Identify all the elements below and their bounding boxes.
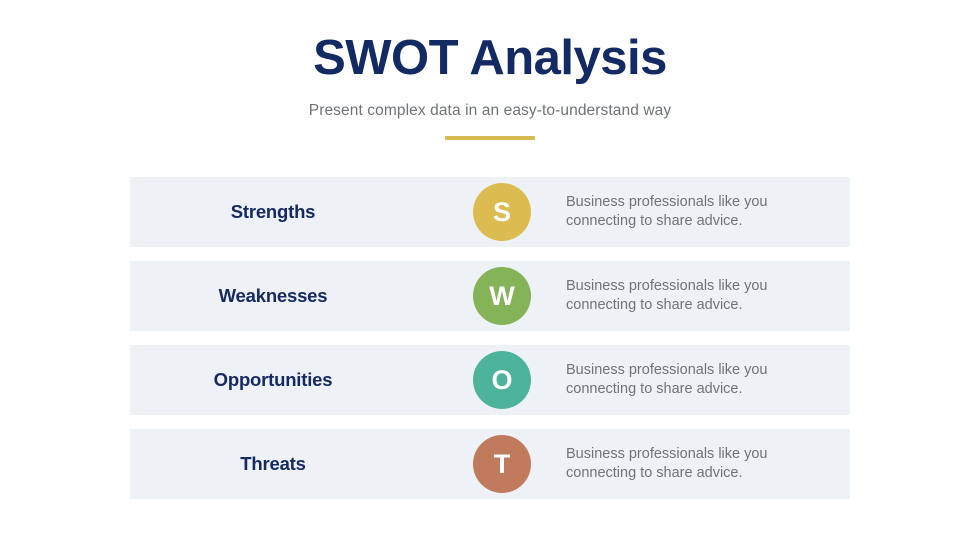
swot-label-strengths: Strengths — [130, 201, 446, 223]
page-subtitle: Present complex data in an easy-to-under… — [0, 102, 980, 120]
swot-badge-cell-strengths: S — [446, 183, 558, 241]
swot-badge-cell-weaknesses: W — [446, 267, 558, 325]
swot-row-strengths[interactable]: Strengths S Business professionals like … — [130, 177, 850, 247]
description-line-2: connecting to share advice. — [566, 380, 830, 399]
description-line-1: Business professionals like you — [566, 445, 830, 464]
swot-row-threats[interactable]: Threats T Business professionals like yo… — [130, 429, 850, 499]
swot-row-list: Strengths S Business professionals like … — [130, 177, 850, 499]
description-line-1: Business professionals like you — [566, 193, 830, 212]
title-divider — [445, 136, 535, 140]
swot-analysis-slide: SWOT Analysis Present complex data in an… — [0, 0, 980, 551]
swot-label-threats: Threats — [130, 453, 446, 475]
letter-badge-icon-o: O — [473, 351, 531, 409]
swot-row-weaknesses[interactable]: Weaknesses W Business professionals like… — [130, 261, 850, 331]
swot-badge-cell-opportunities: O — [446, 351, 558, 409]
description-line-2: connecting to share advice. — [566, 296, 830, 315]
letter-badge-icon-w: W — [473, 267, 531, 325]
letter-badge-icon-s: S — [473, 183, 531, 241]
swot-badge-cell-threats: T — [446, 435, 558, 493]
swot-row-opportunities[interactable]: Opportunities O Business professionals l… — [130, 345, 850, 415]
description-line-1: Business professionals like you — [566, 361, 830, 380]
page-title: SWOT Analysis — [0, 32, 980, 86]
letter-badge-icon-t: T — [473, 435, 531, 493]
swot-description-opportunities: Business professionals like you connecti… — [558, 361, 850, 399]
slide-header: SWOT Analysis Present complex data in an… — [0, 32, 980, 140]
description-line-2: connecting to share advice. — [566, 464, 830, 483]
swot-description-threats: Business professionals like you connecti… — [558, 445, 850, 483]
swot-description-weaknesses: Business professionals like you connecti… — [558, 277, 850, 315]
description-line-1: Business professionals like you — [566, 277, 830, 296]
swot-label-opportunities: Opportunities — [130, 369, 446, 391]
swot-label-weaknesses: Weaknesses — [130, 285, 446, 307]
description-line-2: connecting to share advice. — [566, 212, 830, 231]
swot-description-strengths: Business professionals like you connecti… — [558, 193, 850, 231]
